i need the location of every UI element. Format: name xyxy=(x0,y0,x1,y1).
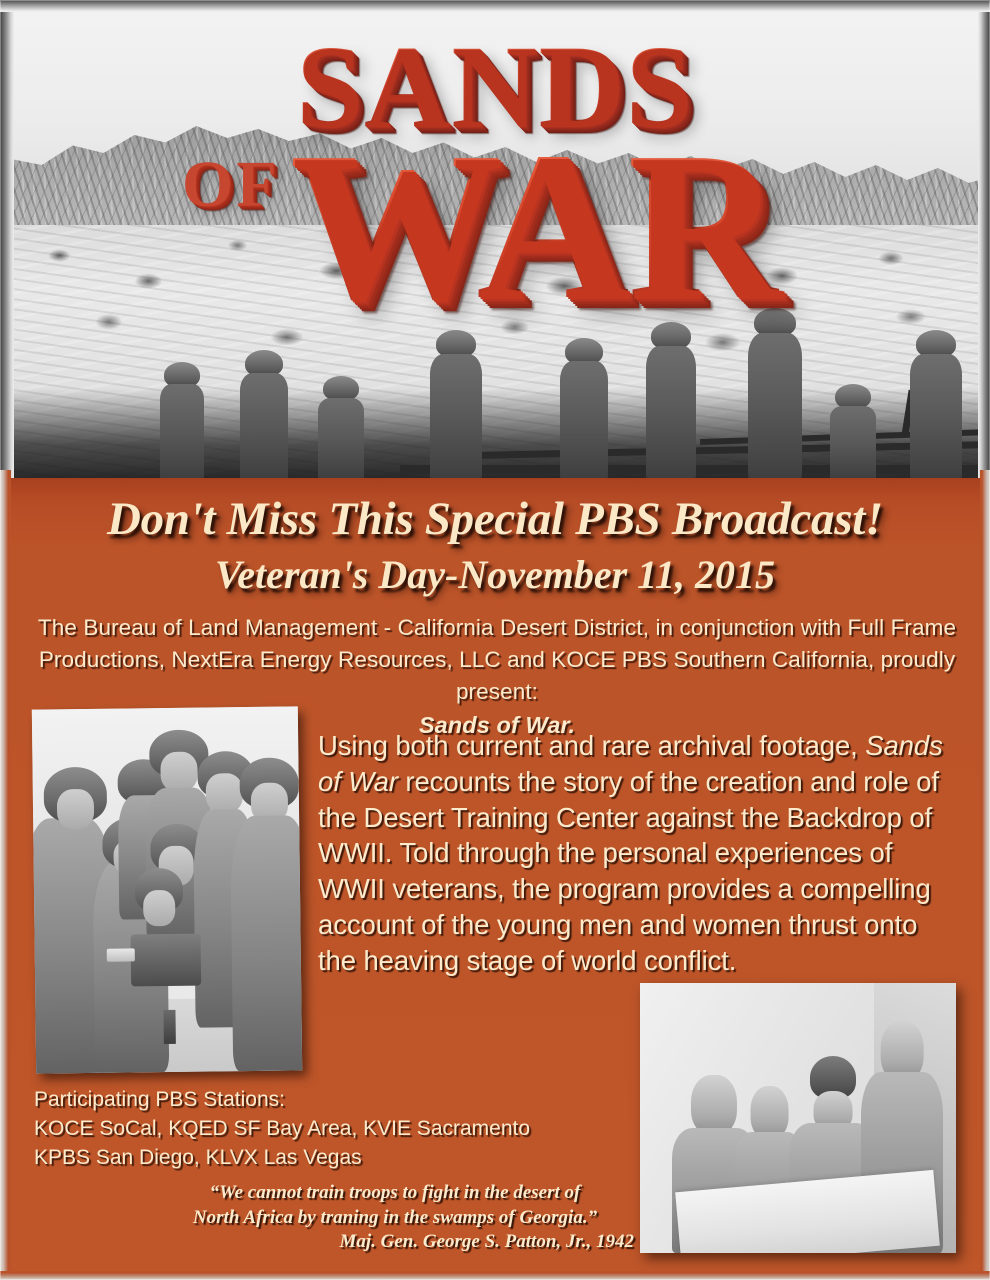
soldier-body xyxy=(748,333,802,480)
soldier-body xyxy=(910,354,962,480)
description-part-2: recounts the story of the creation and r… xyxy=(318,766,939,976)
broadcast-headline: Don't Miss This Special PBS Broadcast! xyxy=(0,495,990,544)
stations-heading: Participating PBS Stations: xyxy=(34,1086,634,1115)
soldier-body xyxy=(318,398,364,480)
instrument-tripod-post xyxy=(163,1010,175,1044)
title-of: OF xyxy=(182,152,280,218)
intro-line-2: Productions, NextEra Energy Resources, L… xyxy=(24,644,970,708)
panel-right-edge xyxy=(980,470,990,1280)
soldier-face xyxy=(205,773,243,813)
program-description: Using both current and rare archival foo… xyxy=(318,728,958,978)
soldier-silhouette xyxy=(830,384,876,480)
soldier-body xyxy=(646,346,696,480)
soldier-silhouette xyxy=(318,376,364,480)
soldier-face xyxy=(143,890,175,927)
soldier-silhouette xyxy=(910,330,962,480)
participating-stations: Participating PBS Stations: KOCE SoCal, … xyxy=(34,1086,634,1173)
poster-title: SANDS OF WAR xyxy=(0,0,990,300)
officer-head xyxy=(691,1075,737,1136)
broadcast-date: Veteran's Day-November 11, 2015 xyxy=(0,554,990,596)
soldier-body xyxy=(430,354,482,480)
soldier-body xyxy=(830,406,876,480)
photo-officers-with-map xyxy=(640,983,956,1253)
artillery-sighting-instrument xyxy=(130,933,201,986)
soldier-body xyxy=(560,361,608,480)
quote-line-1: “We cannot train troops to fight in the … xyxy=(150,1181,640,1206)
soldier-silhouette xyxy=(430,330,482,480)
officer-head xyxy=(750,1086,789,1140)
soldier-silhouette xyxy=(560,338,608,480)
soldier-silhouette xyxy=(160,362,204,480)
soldier-silhouette xyxy=(240,350,288,480)
photo-soldiers-with-instrument xyxy=(32,706,302,1073)
quote-attribution: Maj. Gen. George S. Patton, Jr., 1942 xyxy=(150,1230,640,1255)
soldier-group xyxy=(32,706,302,1073)
title-war: WAR xyxy=(290,120,779,332)
frame-top-edge xyxy=(0,0,990,12)
panel-left-edge xyxy=(0,470,11,1280)
stations-line-1: KOCE SoCal, KQED SF Bay Area, KVIE Sacra… xyxy=(34,1115,634,1144)
soldier-body xyxy=(240,373,288,480)
description-part-1: Using both current and rare archival foo… xyxy=(318,730,865,761)
soldier-face xyxy=(160,751,198,791)
frame-left-edge xyxy=(0,0,14,478)
panel-bottom-edge xyxy=(0,1271,990,1280)
soldier-silhouette xyxy=(646,322,696,480)
soldier-body xyxy=(230,815,302,1071)
soldier-body xyxy=(160,384,204,480)
stations-line-2: KPBS San Diego, KLVX Las Vegas xyxy=(34,1144,634,1173)
frame-right-edge xyxy=(978,0,990,478)
patton-quote: “We cannot train troops to fight in the … xyxy=(150,1181,640,1255)
soldier-face xyxy=(57,789,95,829)
intro-line-1: The Bureau of Land Management - Californ… xyxy=(38,615,956,640)
sands-of-war-poster: SANDS OF WAR Don't Miss This Special PBS… xyxy=(0,0,990,1280)
quote-line-2: North Africa by traning in the swamps of… xyxy=(150,1206,640,1231)
